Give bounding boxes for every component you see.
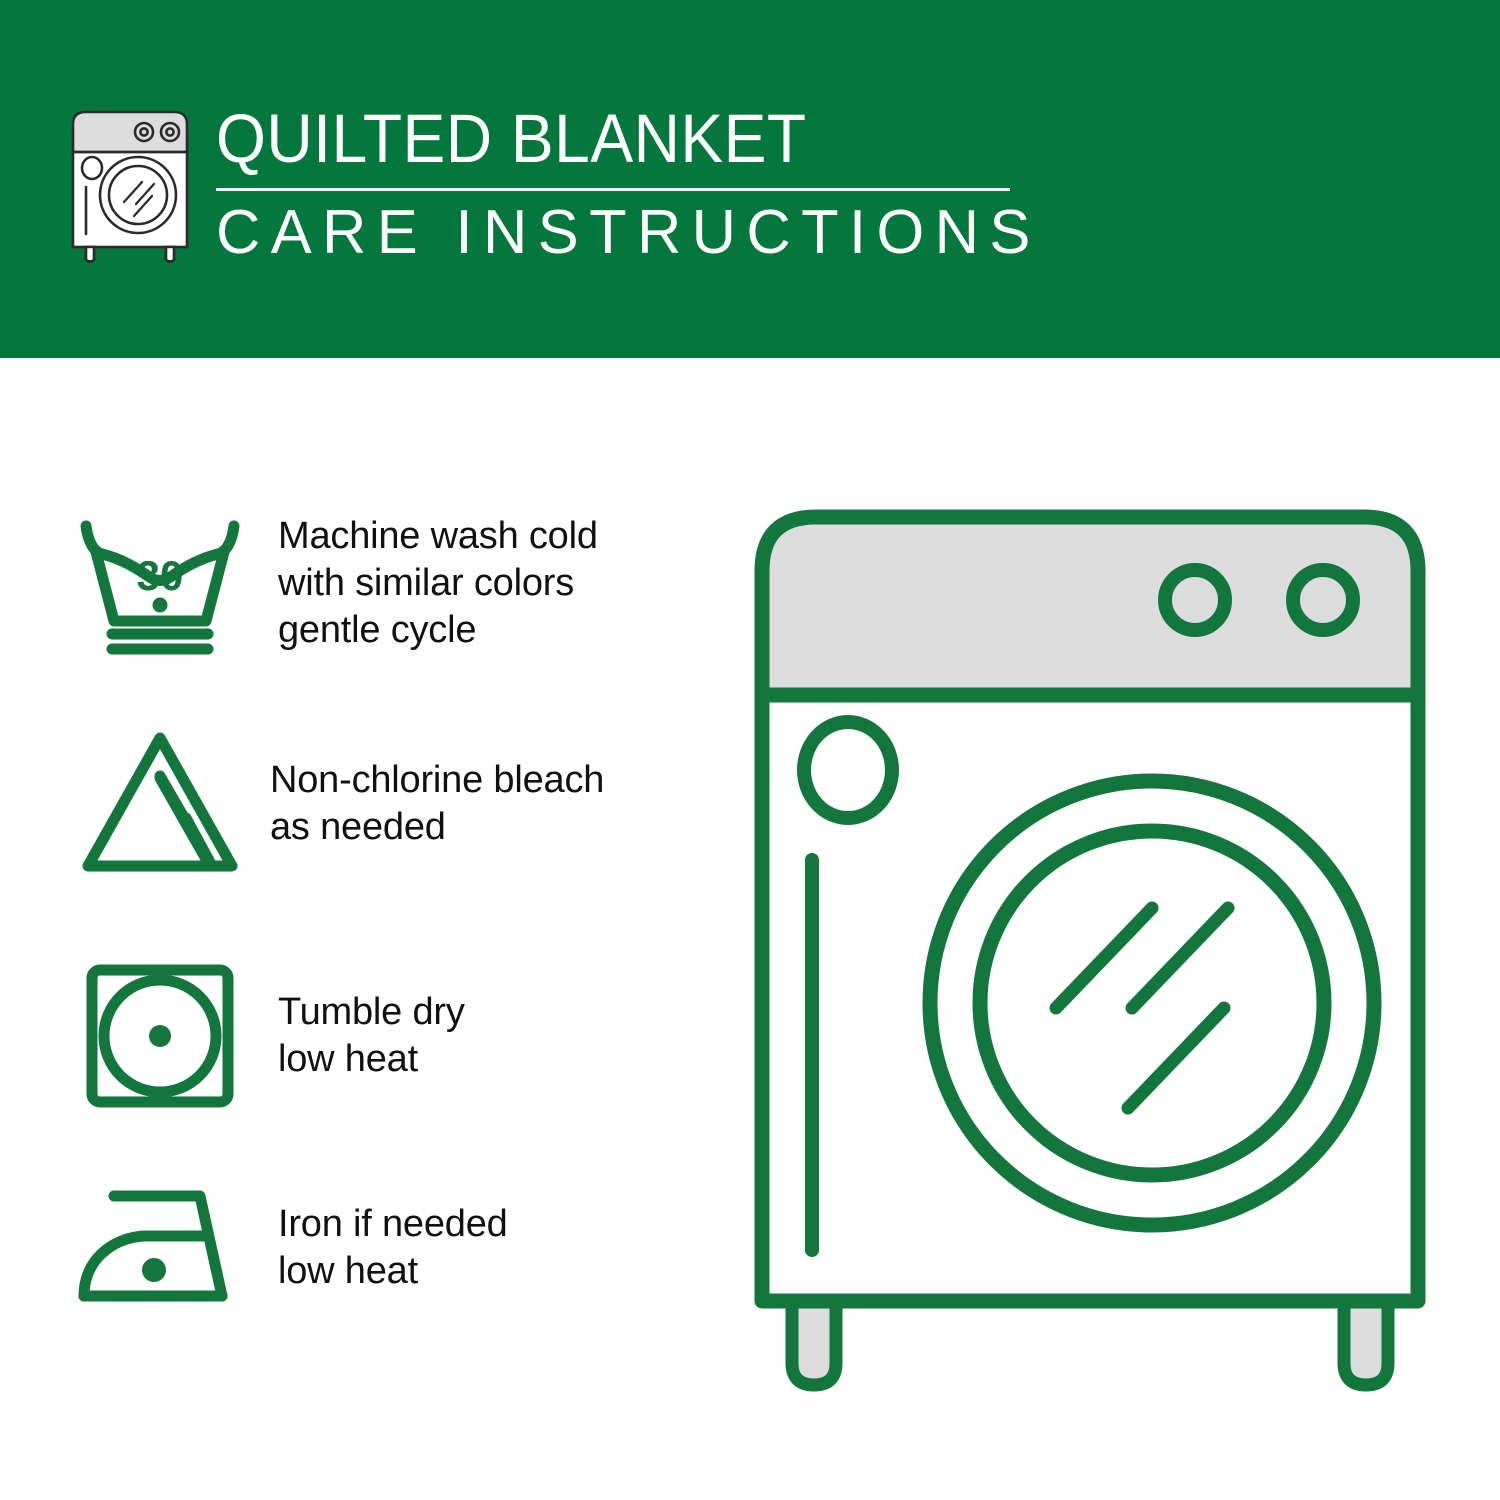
care-instruction-row-dry: Tumble dry low heat <box>72 958 465 1114</box>
page-subtitle: CARE INSTRUCTIONS <box>216 197 1008 269</box>
wash-tub-30-gentle-icon: 30 <box>72 508 248 658</box>
care-instruction-row-wash: 30 Machine wash cold with similar colors… <box>72 508 598 658</box>
non-chlorine-bleach-triangle-icon <box>72 726 248 882</box>
control-panel <box>762 517 1418 695</box>
tumble-dry-low-heat-icon <box>72 958 248 1114</box>
leg-left <box>792 1301 836 1385</box>
wash-temperature-label: 30 <box>137 552 184 599</box>
washing-machine-legs <box>792 1301 1388 1385</box>
leg-right <box>1344 1301 1388 1385</box>
care-instruction-text-iron: Iron if needed low heat <box>278 1201 508 1295</box>
washing-machine-illustration <box>740 495 1460 1415</box>
header-band: QUILTED BLANKET CARE INSTRUCTIONS <box>0 0 1500 358</box>
header-text-block: QUILTED BLANKET CARE INSTRUCTIONS <box>216 100 1016 269</box>
page-title: QUILTED BLANKET <box>216 100 960 178</box>
care-instruction-text-dry: Tumble dry low heat <box>278 989 465 1083</box>
care-instruction-text-bleach: Non-chlorine bleach as needed <box>270 757 604 851</box>
care-instruction-row-iron: Iron if needed low heat <box>72 1178 508 1318</box>
iron-low-heat-icon <box>72 1178 256 1318</box>
care-instruction-row-bleach: Non-chlorine bleach as needed <box>72 726 604 882</box>
header-divider <box>216 188 1010 191</box>
care-instruction-text-wash: Machine wash cold with similar colors ge… <box>278 513 598 654</box>
washing-machine-icon <box>62 104 198 264</box>
